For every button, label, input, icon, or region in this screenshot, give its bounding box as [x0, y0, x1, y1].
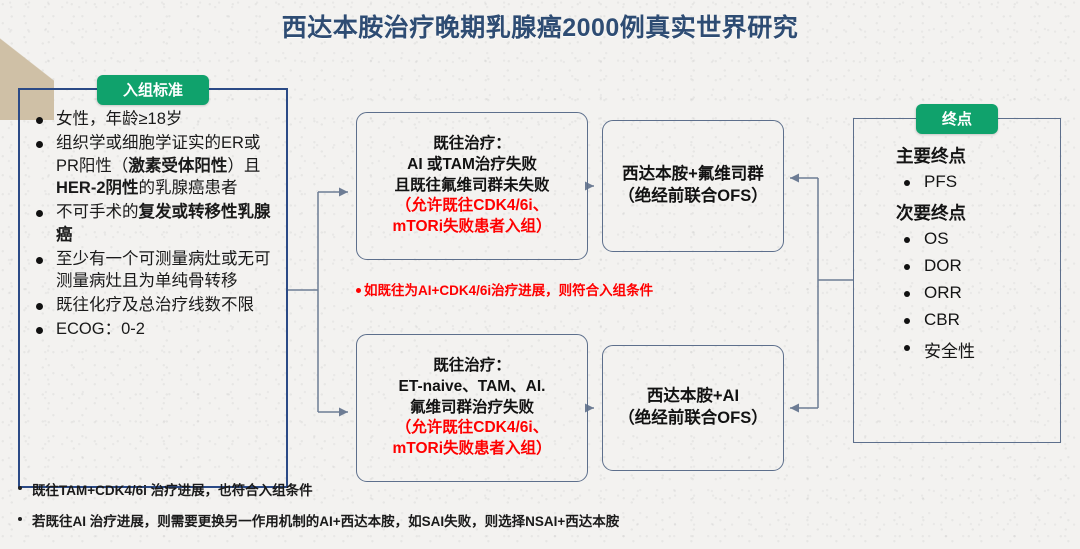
prior-treatment-bottom-line: 氟维司群治疗失败 — [410, 398, 534, 419]
prior-treatment-bottom-box: 既往治疗：ET-naive、TAM、AI.氟维司群治疗失败（允许既往CDK4/6… — [356, 334, 588, 482]
criteria-text-run: 的乳腺癌患者 — [139, 179, 238, 197]
criteria-text-run: 激素受体阳性 — [128, 157, 227, 175]
secondary-endpoint-item: 安全性 — [900, 337, 1060, 362]
footnote-item: 既往TAM+CDK4/6i 治疗进展，也符合入组条件 — [14, 479, 1054, 499]
secondary-endpoint-list: OSDORORRCBR安全性 — [900, 229, 1060, 362]
criteria-item: 女性，年龄≥18岁 — [34, 108, 276, 131]
inclusion-note: 如既往为AI+CDK4/6i治疗进展，则符合入组条件 — [356, 279, 653, 299]
treatment-arm-top-box: 西达本胺+氟维司群（绝经前联合OFS） — [602, 120, 784, 252]
primary-endpoint-list: PFS — [900, 172, 1060, 192]
prior-treatment-bottom-line: ET-naive、TAM、AI. — [399, 377, 546, 398]
criteria-item: 至少有一个可测量病灶或无可测量病灶且为单纯骨转移 — [34, 248, 276, 294]
secondary-endpoint-item: DOR — [900, 256, 1060, 276]
prior-treatment-top-line: （允许既往CDK4/6i、 — [396, 196, 548, 217]
criteria-item: 不可手术的复发或转移性乳腺癌 — [34, 201, 276, 247]
criteria-text-run: 既往化疗及总治疗线数不限 — [56, 296, 254, 314]
treatment-arm-bottom-line: （绝经前联合OFS） — [618, 408, 767, 430]
treatment-arm-bottom-box: 西达本胺+AI（绝经前联合OFS） — [602, 345, 784, 471]
secondary-endpoint-label: 次要终点 — [896, 200, 1060, 225]
inclusion-criteria-panel: 入组标准 女性，年龄≥18岁组织学或细胞学证实的ER或PR阳性（激素受体阳性）且… — [18, 88, 288, 488]
endpoints-badge: 终点 — [916, 104, 998, 134]
secondary-endpoint-item: ORR — [900, 283, 1060, 303]
primary-endpoint-label: 主要终点 — [896, 143, 1060, 168]
treatment-arm-top-line: 西达本胺+氟维司群 — [622, 164, 764, 186]
prior-treatment-top-line: 既往治疗： — [433, 134, 511, 155]
criteria-item: 既往化疗及总治疗线数不限 — [34, 294, 276, 317]
inclusion-criteria-list: 女性，年龄≥18岁组织学或细胞学证实的ER或PR阳性（激素受体阳性）且HER-2… — [20, 90, 286, 341]
prior-treatment-top-line: AI 或TAM治疗失败 — [407, 155, 537, 176]
prior-treatment-bottom-line: 既往治疗： — [433, 356, 511, 377]
footnote-item: 若既往AI 治疗进展，则需要更换另一作用机制的AI+西达本胺，如SAI失败，则选… — [14, 510, 1054, 530]
treatment-arm-bottom-line: 西达本胺+AI — [647, 386, 739, 408]
footnotes: 既往TAM+CDK4/6i 治疗进展，也符合入组条件若既往AI 治疗进展，则需要… — [14, 479, 1054, 541]
prior-treatment-bottom-line: mTORi失败患者入组） — [392, 439, 551, 460]
criteria-item: ECOG：0-2 — [34, 318, 276, 341]
primary-endpoint-item: PFS — [900, 172, 1060, 192]
criteria-text-run: 至少有一个可测量病灶或无可测量病灶且为单纯骨转移 — [56, 250, 271, 291]
criteria-item: 组织学或细胞学证实的ER或PR阳性（激素受体阳性）且HER-2阴性的乳腺癌患者 — [34, 132, 276, 200]
criteria-text-run: 女性，年龄≥18岁 — [56, 110, 182, 128]
inclusion-criteria-badge: 入组标准 — [97, 75, 209, 105]
criteria-text-run: ）且 — [227, 157, 260, 175]
treatment-arm-top-line: （绝经前联合OFS） — [618, 186, 767, 208]
secondary-endpoint-item: OS — [900, 229, 1060, 249]
secondary-endpoint-item: CBR — [900, 310, 1060, 330]
criteria-text-run: HER-2阴性 — [56, 179, 139, 197]
endpoints-panel: 终点 主要终点 PFS 次要终点 OSDORORRCBR安全性 — [853, 118, 1061, 443]
prior-treatment-bottom-line: （允许既往CDK4/6i、 — [396, 418, 548, 439]
criteria-text-run: ECOG：0-2 — [56, 320, 145, 338]
prior-treatment-top-line: 且既往氟维司群未失败 — [394, 176, 549, 197]
prior-treatment-top-line: mTORi失败患者入组） — [392, 217, 551, 238]
prior-treatment-top-box: 既往治疗：AI 或TAM治疗失败且既往氟维司群未失败（允许既往CDK4/6i、m… — [356, 112, 588, 260]
page-title: 西达本胺治疗晚期乳腺癌2000例真实世界研究 — [0, 8, 1080, 44]
criteria-text-run: 不可手术的 — [56, 203, 139, 221]
endpoints-body: 主要终点 PFS 次要终点 OSDORORRCBR安全性 — [854, 119, 1060, 362]
